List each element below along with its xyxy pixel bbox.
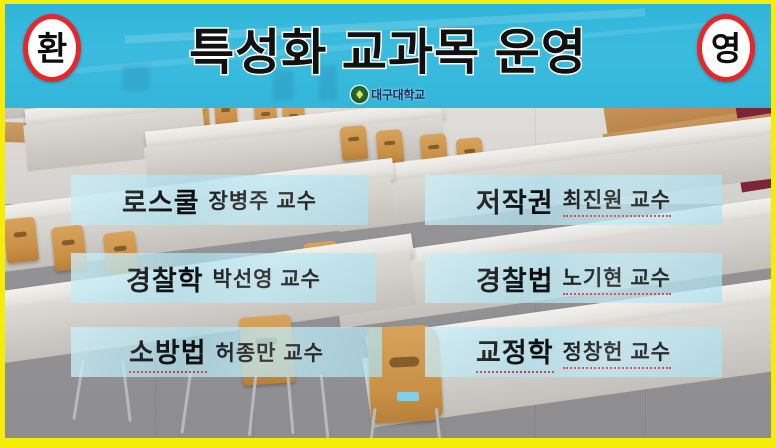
course-subject: 교정학: [476, 331, 554, 373]
course-subject: 경찰법: [476, 259, 554, 298]
course-box-loschool[interactable]: 로스쿨 장병주 교수: [71, 175, 368, 225]
chair-leg: [320, 374, 330, 438]
course-subject: 소방법: [129, 331, 207, 373]
chair-leg: [180, 368, 192, 434]
chair: [340, 125, 369, 161]
course-box-copyright[interactable]: 저작권 최진원 교수: [425, 175, 722, 225]
university-emblem-icon: [351, 86, 368, 103]
chair-leg: [286, 376, 294, 434]
university-logo-text: 대구대학교: [371, 86, 425, 103]
badge-right: 영: [697, 14, 755, 82]
course-professor: 박선영 교수: [213, 263, 321, 293]
chair: [5, 216, 39, 263]
course-professor: 장병주 교수: [209, 185, 317, 215]
slide-frame: 특성화 교과목 운영 대구대학교 환 영 로스쿨 장병주 교수 경찰학 박선영 …: [0, 0, 776, 448]
header-banner: 특성화 교과목 운영 대구대학교: [5, 4, 771, 108]
course-professor: 최진원 교수: [563, 184, 671, 217]
course-box-police-law[interactable]: 경찰법 노기현 교수: [425, 253, 722, 303]
course-subject: 경찰학: [126, 259, 204, 298]
course-box-fire-law[interactable]: 소방법 허종만 교수: [71, 327, 382, 377]
university-logo: 대구대학교: [5, 86, 771, 103]
chair-sticker: [397, 392, 419, 401]
course-box-police-science[interactable]: 경찰학 박선영 교수: [71, 253, 376, 303]
course-subject: 로스쿨: [122, 181, 200, 220]
course-subject: 저작권: [476, 181, 554, 220]
course-professor: 정창헌 교수: [563, 336, 671, 369]
badge-left-label: 환: [37, 32, 67, 65]
page-title: 특성화 교과목 운영: [5, 13, 771, 84]
course-professor: 노기현 교수: [563, 262, 671, 295]
course-professor: 허종만 교수: [216, 337, 324, 367]
course-box-corrections[interactable]: 교정학 정창헌 교수: [425, 327, 722, 377]
slide-inner: 특성화 교과목 운영 대구대학교 환 영 로스쿨 장병주 교수 경찰학 박선영 …: [5, 4, 771, 438]
badge-left: 환: [23, 14, 81, 82]
badge-right-label: 영: [711, 32, 741, 65]
